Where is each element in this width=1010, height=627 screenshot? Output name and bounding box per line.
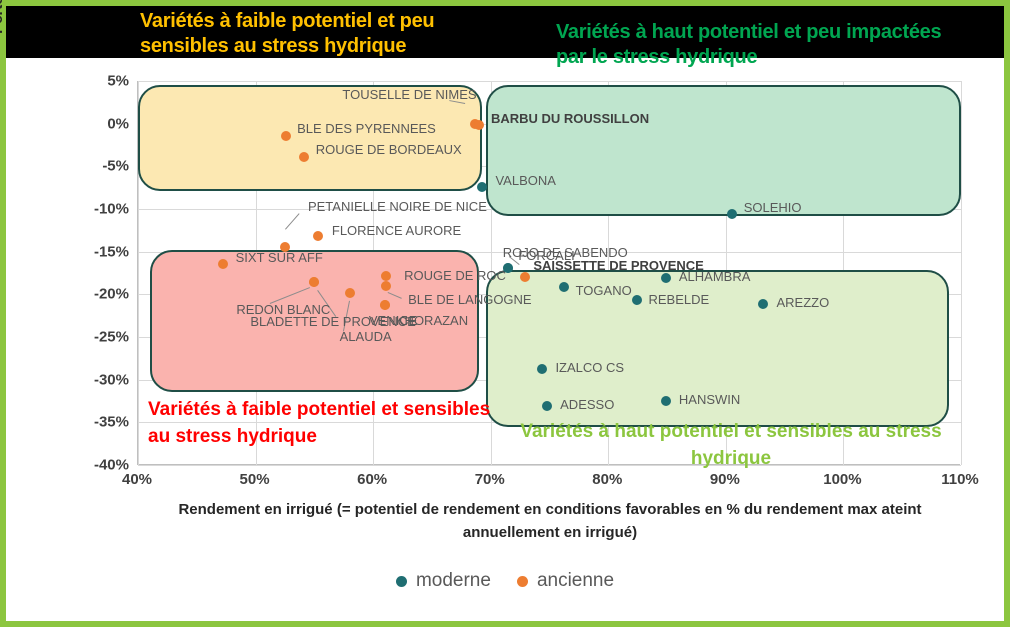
gridline-horizontal xyxy=(138,81,961,82)
label-leader-line xyxy=(285,213,300,230)
point-label: ALHAMBRA xyxy=(679,270,751,284)
y-tick-label: -10% xyxy=(83,201,129,218)
point-label: ROUGE DE BORDEAUX xyxy=(316,143,462,157)
point-label: REBELDE xyxy=(649,293,710,307)
x-tick-label: 40% xyxy=(102,471,172,488)
point-label: SIXT SUR AFF xyxy=(236,251,323,265)
data-point[interactable] xyxy=(380,300,390,310)
y-axis-label: Pertes de rendement dues au stress hydri… xyxy=(0,0,28,60)
data-point[interactable] xyxy=(559,282,569,292)
legend-item[interactable]: ancienne xyxy=(517,570,614,592)
annotation-low-potential-sensitive: Variétés à faible potentiel et sensibles… xyxy=(148,396,508,450)
point-label: ADESSO xyxy=(560,398,614,412)
data-point[interactable] xyxy=(727,209,737,219)
data-point[interactable] xyxy=(520,272,530,282)
legend-color-dot xyxy=(517,576,528,587)
data-point[interactable] xyxy=(661,396,671,406)
title-low-potential-low-sensitivity: Variétés à faible potentiel et peu sensi… xyxy=(140,9,520,59)
legend-label: ancienne xyxy=(537,570,614,592)
y-tick-label: 5% xyxy=(83,73,129,90)
point-label: BLE DE LANGOGNE xyxy=(408,293,532,307)
y-tick-label: -15% xyxy=(83,243,129,260)
data-point[interactable] xyxy=(381,281,391,291)
y-tick-label: 0% xyxy=(83,115,129,132)
data-point[interactable] xyxy=(477,182,487,192)
point-label: SOLEHIO xyxy=(744,201,802,215)
data-point[interactable] xyxy=(381,271,391,281)
y-tick-label: -20% xyxy=(83,286,129,303)
annotation-high-potential-sensitive: Variétés à haut potentiel et sensibles a… xyxy=(516,418,946,472)
data-point[interactable] xyxy=(758,299,768,309)
point-label: KHORAZAN xyxy=(396,314,468,328)
y-tick-label: -35% xyxy=(83,414,129,431)
point-label: TOUSELLE DE NIMES xyxy=(342,88,476,102)
data-point[interactable] xyxy=(299,152,309,162)
data-point[interactable] xyxy=(537,364,547,374)
x-tick-label: 50% xyxy=(220,471,290,488)
point-label: PETANIELLE NOIRE DE NICE xyxy=(308,200,487,214)
point-label: BARBU DU ROUSSILLON xyxy=(491,112,649,126)
chart-legend: moderneancienne xyxy=(0,570,1010,592)
x-tick-label: 90% xyxy=(690,471,760,488)
legend-color-dot xyxy=(396,576,407,587)
data-point[interactable] xyxy=(345,288,355,298)
legend-item[interactable]: moderne xyxy=(396,570,491,592)
data-point[interactable] xyxy=(542,401,552,411)
point-label: BLE DES PYRENNEES xyxy=(297,122,436,136)
point-label: IZALCO CS xyxy=(555,361,624,375)
data-point[interactable] xyxy=(281,131,291,141)
point-label: AREZZO xyxy=(776,296,829,310)
title-high-potential-low-impact: Variétés à haut potentiel et peu impacté… xyxy=(556,20,956,70)
data-point[interactable] xyxy=(474,120,484,130)
x-tick-label: 110% xyxy=(925,471,995,488)
x-tick-label: 60% xyxy=(337,471,407,488)
data-point[interactable] xyxy=(313,231,323,241)
point-label: ROUGE DE ROC xyxy=(404,269,506,283)
quadrant-box-teal xyxy=(486,85,961,216)
data-point[interactable] xyxy=(218,259,228,269)
legend-label: moderne xyxy=(416,570,491,592)
point-label: FLORENCE AURORE xyxy=(332,224,461,238)
y-tick-label: -25% xyxy=(83,329,129,346)
point-label: HANSWIN xyxy=(679,393,740,407)
point-label: TOGANO xyxy=(576,284,632,298)
data-point[interactable] xyxy=(661,273,671,283)
x-tick-label: 100% xyxy=(807,471,877,488)
point-label: ALAUDA xyxy=(340,330,392,344)
x-axis-label: Rendement en irrigué (= potentiel de ren… xyxy=(140,498,960,544)
y-tick-label: -30% xyxy=(83,371,129,388)
data-point[interactable] xyxy=(632,295,642,305)
point-label: VALBONA xyxy=(495,174,555,188)
gridline-vertical xyxy=(961,81,962,465)
data-point[interactable] xyxy=(309,277,319,287)
x-tick-label: 80% xyxy=(572,471,642,488)
y-tick-label: -5% xyxy=(83,158,129,175)
x-tick-label: 70% xyxy=(455,471,525,488)
